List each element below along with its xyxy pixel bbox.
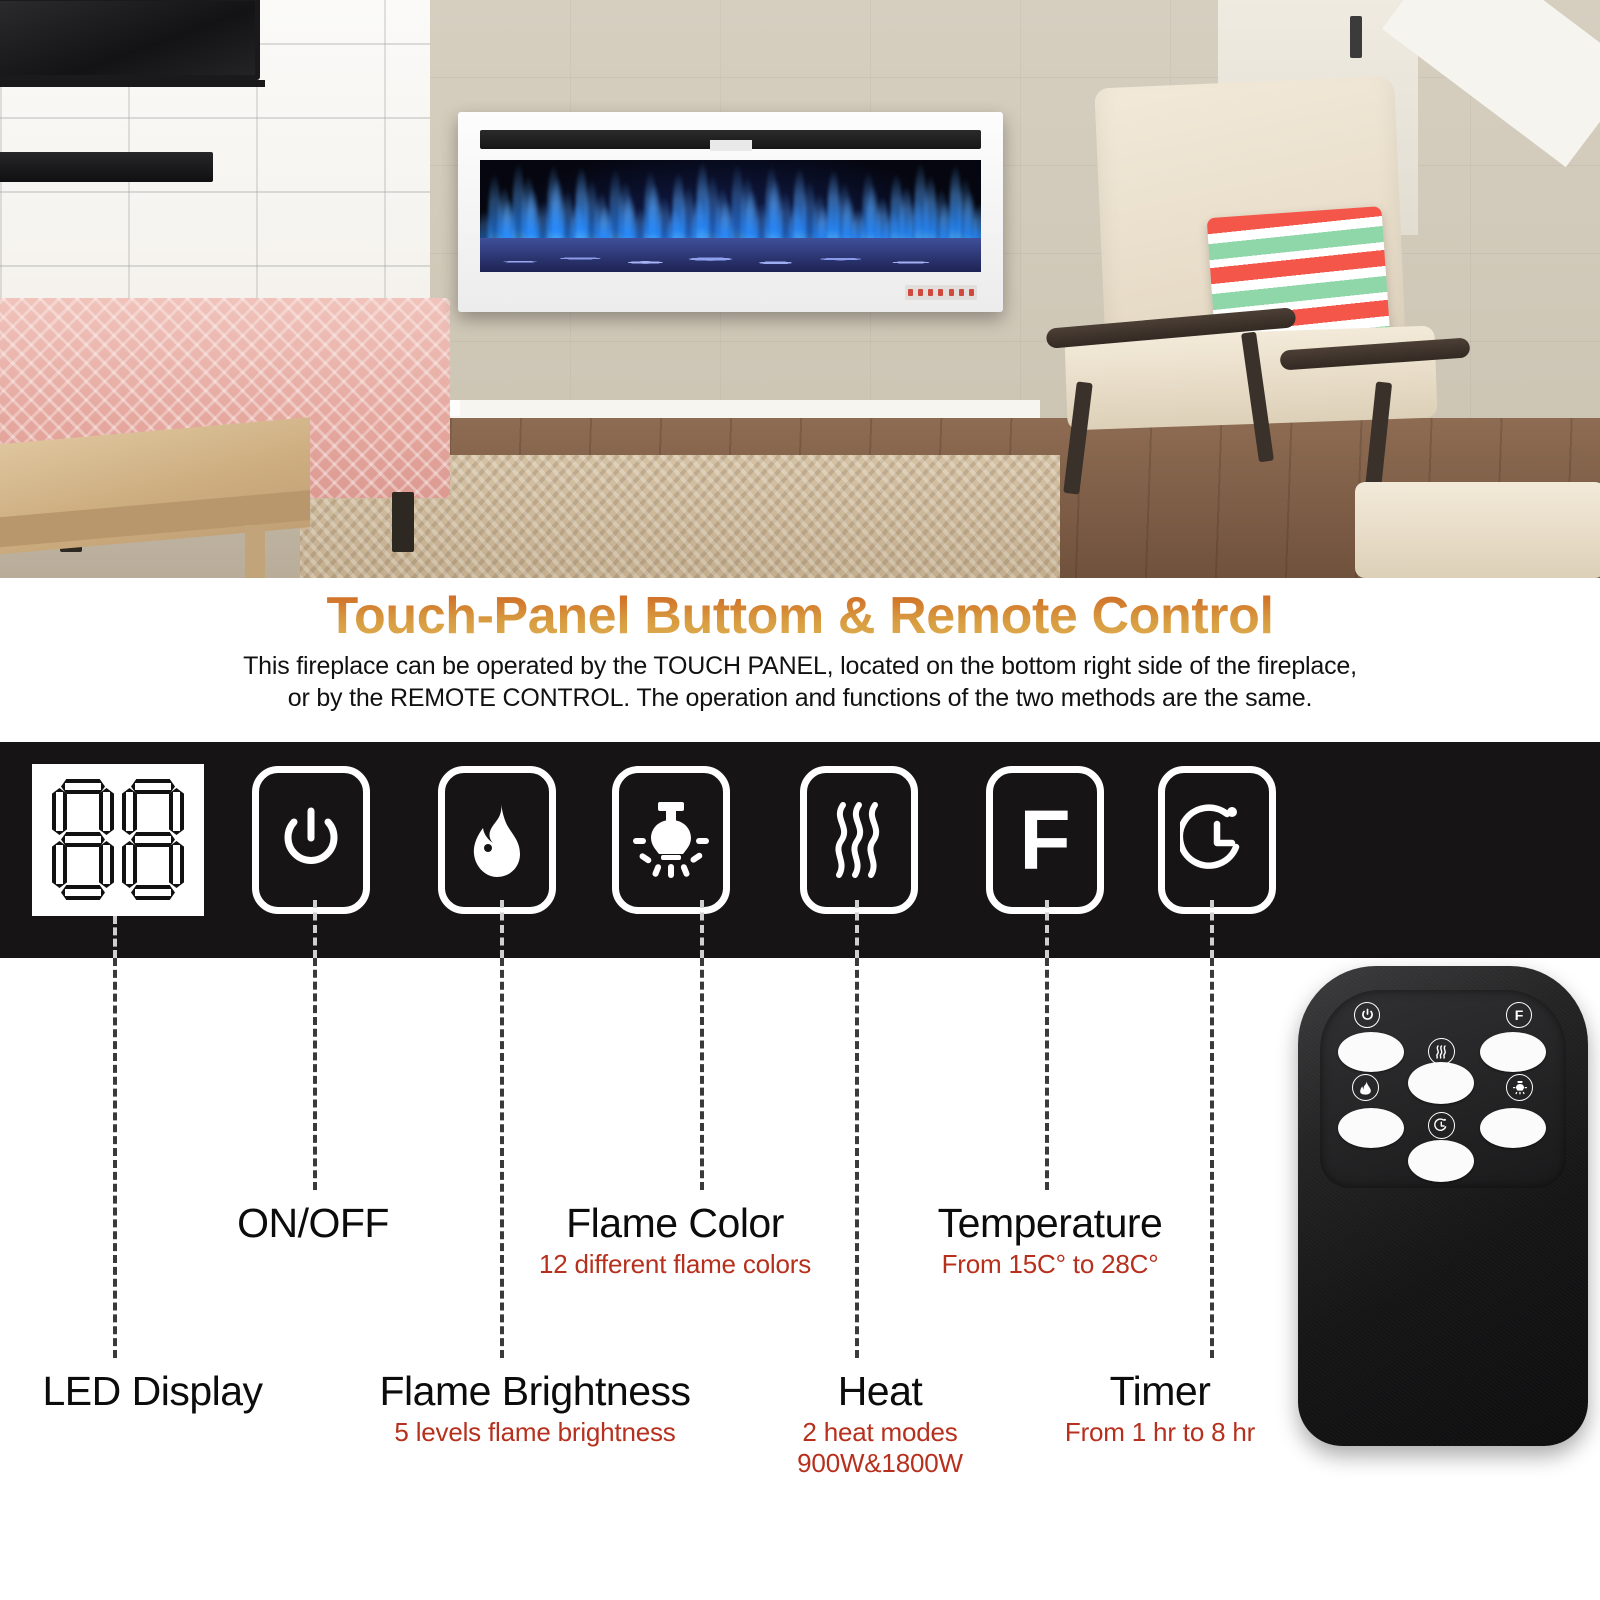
remote-flame-icon[interactable] bbox=[1352, 1074, 1379, 1101]
led-display-icon bbox=[32, 764, 204, 916]
connector-line-led bbox=[113, 958, 117, 1358]
remote-oval-button-6[interactable] bbox=[1408, 1140, 1474, 1182]
coffee-table-leg bbox=[245, 525, 265, 578]
remote-oval-button-2[interactable] bbox=[1480, 1032, 1546, 1072]
connector-stub-color bbox=[700, 900, 704, 958]
connector-line-timer bbox=[1210, 958, 1214, 1358]
fireplace-glass bbox=[480, 160, 981, 272]
callout-timer: Timer From 1 hr to 8 hr bbox=[1030, 1368, 1290, 1448]
remote-light-bulb-icon[interactable] bbox=[1506, 1074, 1533, 1101]
subtitle-line-2: or by the REMOTE CONTROL. The operation … bbox=[0, 682, 1600, 714]
remote-oval-button-3[interactable] bbox=[1408, 1062, 1474, 1104]
connector-stub-onoff bbox=[313, 900, 317, 958]
callout-heat-sub1: 2 heat modes bbox=[780, 1417, 980, 1448]
remote-fahrenheit-letter: F bbox=[1515, 1008, 1524, 1022]
hero-photo bbox=[0, 0, 1600, 578]
connector-stub-heat bbox=[855, 900, 859, 958]
flame-icon[interactable] bbox=[438, 766, 556, 914]
callout-timer-sub: From 1 hr to 8 hr bbox=[1030, 1417, 1290, 1448]
power-icon[interactable] bbox=[252, 766, 370, 914]
connector-line-brightness bbox=[500, 958, 504, 1358]
remote-power-icon[interactable] bbox=[1354, 1002, 1380, 1028]
connector-line-heat bbox=[855, 958, 859, 1358]
fireplace-touch-panel[interactable] bbox=[905, 285, 977, 300]
callout-flame-brightness-title: Flame Brightness bbox=[330, 1368, 740, 1415]
connector-line-onoff bbox=[313, 958, 317, 1190]
connector-stub-led bbox=[113, 916, 117, 958]
callout-heat: Heat 2 heat modes 900W&1800W bbox=[780, 1368, 980, 1479]
callout-temperature-title: Temperature bbox=[900, 1200, 1200, 1247]
callout-onoff-title: ON/OFF bbox=[218, 1200, 408, 1247]
connector-line-color bbox=[700, 958, 704, 1190]
callout-temperature: Temperature From 15C° to 28C° bbox=[900, 1200, 1200, 1280]
callout-heat-sub2: 900W&1800W bbox=[780, 1448, 980, 1479]
connector-line-temp bbox=[1045, 958, 1049, 1190]
fireplace-badge bbox=[710, 140, 752, 151]
fireplace-vent bbox=[480, 130, 981, 149]
callout-flame-color: Flame Color 12 different flame colors bbox=[500, 1200, 850, 1280]
wall-mounted-tv bbox=[0, 0, 260, 80]
led-digit-tens bbox=[50, 779, 116, 901]
remote-timer-icon[interactable] bbox=[1428, 1112, 1455, 1139]
callout-flame-brightness: Flame Brightness 5 levels flame brightne… bbox=[330, 1368, 740, 1448]
callout-flame-color-title: Flame Color bbox=[500, 1200, 850, 1247]
soundbar bbox=[0, 152, 213, 182]
callout-timer-title: Timer bbox=[1030, 1368, 1290, 1415]
heat-waves-icon[interactable] bbox=[800, 766, 918, 914]
callout-led-display: LED Display bbox=[10, 1368, 295, 1415]
callout-heat-title: Heat bbox=[780, 1368, 980, 1415]
callout-onoff: ON/OFF bbox=[218, 1200, 408, 1247]
page-title: Touch-Panel Buttom & Remote Control bbox=[0, 578, 1600, 646]
remote-keypad: F bbox=[1320, 990, 1566, 1188]
touch-panel-strip: F bbox=[0, 742, 1600, 958]
fahrenheit-letter: F bbox=[1019, 798, 1070, 882]
remote-oval-button-4[interactable] bbox=[1338, 1108, 1404, 1148]
remote-fahrenheit-icon[interactable]: F bbox=[1506, 1002, 1532, 1028]
title-block: Touch-Panel Buttom & Remote Control This… bbox=[0, 578, 1600, 742]
electric-fireplace bbox=[458, 112, 1003, 312]
remote-heat-waves-icon[interactable] bbox=[1428, 1038, 1455, 1065]
subtitle-line-1: This fireplace can be operated by the TO… bbox=[0, 650, 1600, 682]
led-digit-ones bbox=[120, 779, 186, 901]
timer-clock-icon[interactable] bbox=[1158, 766, 1276, 914]
callout-led-display-title: LED Display bbox=[10, 1368, 295, 1415]
door-handle bbox=[1350, 16, 1362, 58]
fahrenheit-letter-icon[interactable]: F bbox=[986, 766, 1104, 914]
second-ottoman bbox=[1355, 482, 1600, 578]
remote-oval-button-1[interactable] bbox=[1338, 1032, 1404, 1072]
ottoman-leg bbox=[392, 492, 414, 552]
light-bulb-icon[interactable] bbox=[612, 766, 730, 914]
ember-bed bbox=[480, 238, 981, 272]
tv-shelf bbox=[0, 80, 265, 87]
connector-stub-brightness bbox=[500, 900, 504, 958]
connector-stub-temp bbox=[1045, 900, 1049, 958]
remote-control: F bbox=[1298, 966, 1588, 1446]
callout-temperature-sub: From 15C° to 28C° bbox=[900, 1249, 1200, 1280]
remote-oval-button-5[interactable] bbox=[1480, 1108, 1546, 1148]
connector-stub-timer bbox=[1210, 900, 1214, 958]
callout-flame-brightness-sub: 5 levels flame brightness bbox=[330, 1417, 740, 1448]
armchair bbox=[1040, 82, 1460, 512]
callout-flame-color-sub: 12 different flame colors bbox=[500, 1249, 850, 1280]
